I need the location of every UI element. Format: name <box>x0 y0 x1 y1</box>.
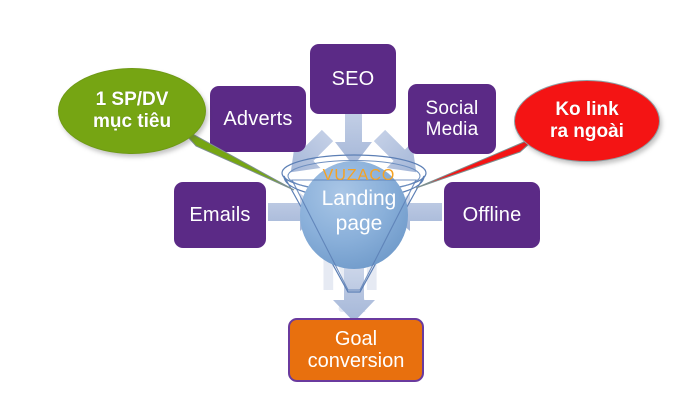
callout-red-bubble[interactable]: Ko link ra ngoài <box>514 80 660 162</box>
callout-leader-layer <box>0 0 700 400</box>
callout-green-bubble[interactable]: 1 SP/DV mục tiêu <box>58 68 206 154</box>
callout-red-line2: ra ngoài <box>550 121 624 143</box>
callout-green-line1: 1 SP/DV <box>93 89 171 111</box>
diagram-canvas: M aR <box>0 0 700 400</box>
callout-green-leader <box>178 126 294 190</box>
callout-red-line1: Ko link <box>550 99 624 121</box>
callout-green-line2: mục tiêu <box>93 111 171 133</box>
callout-red-leader <box>416 136 538 188</box>
